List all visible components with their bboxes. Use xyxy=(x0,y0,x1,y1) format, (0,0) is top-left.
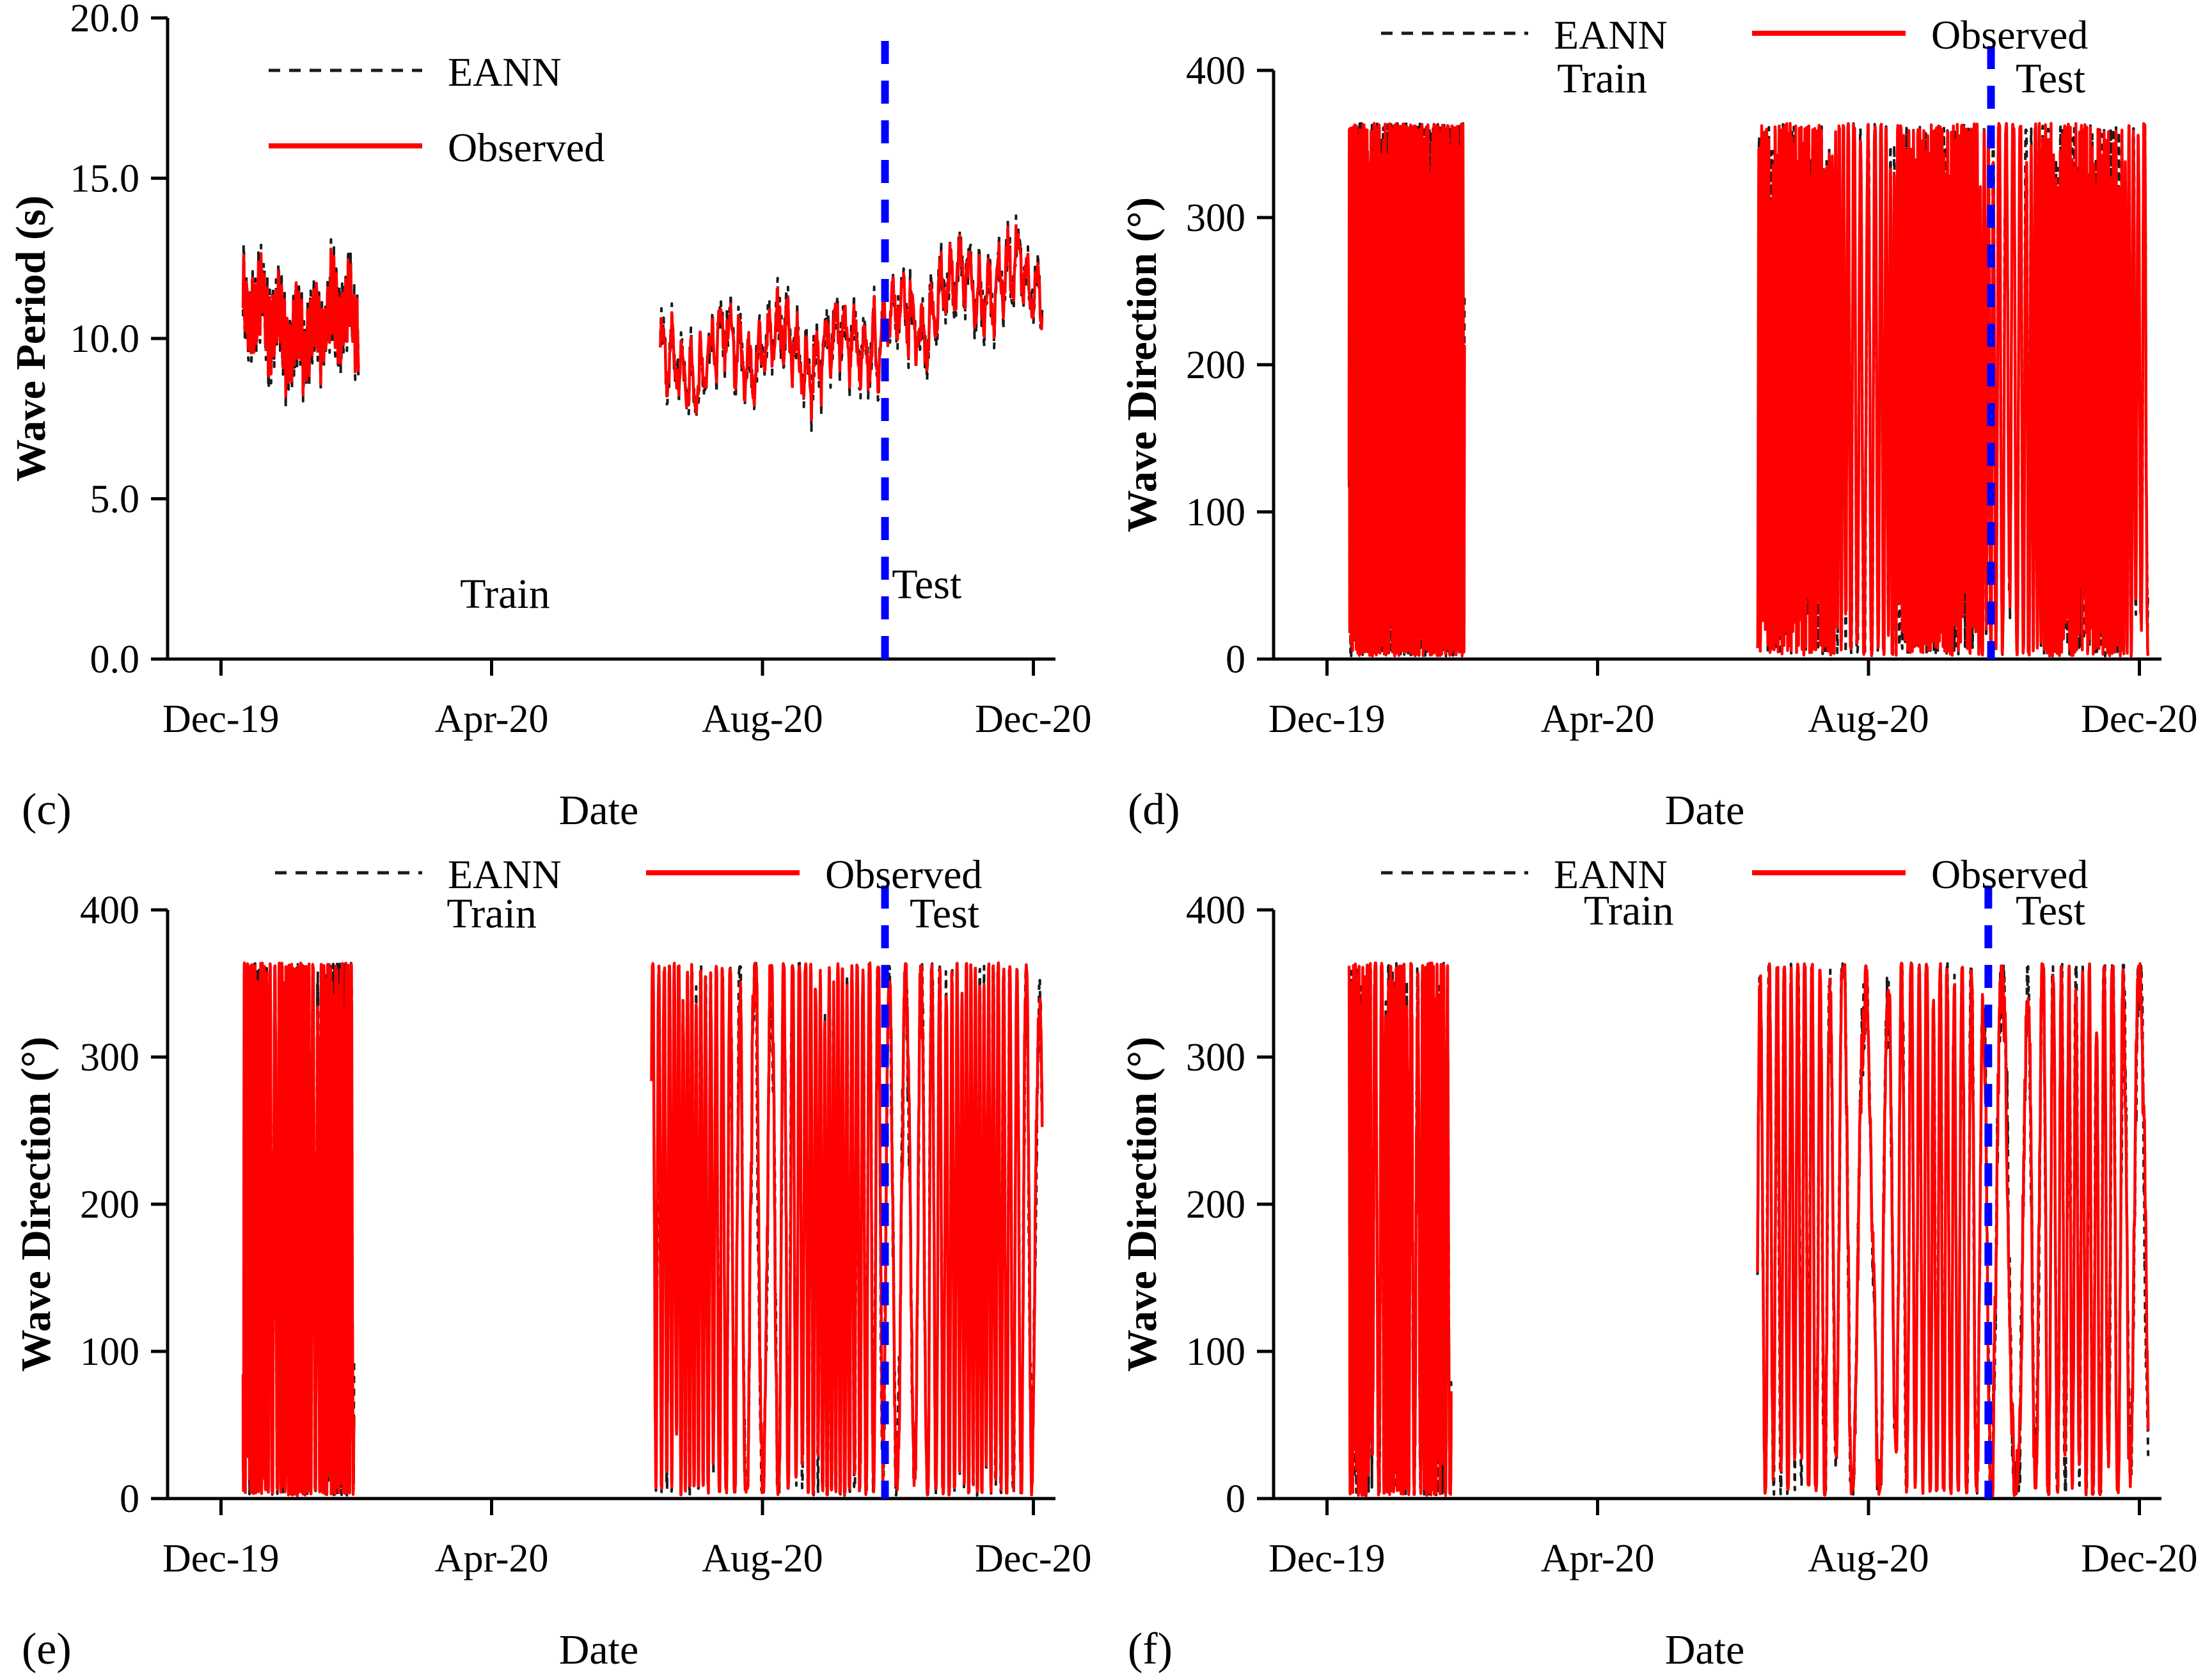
x-tick-label: Apr-20 xyxy=(1541,1537,1655,1580)
y-axis-title: Wave Direction (°) xyxy=(1119,1037,1165,1372)
legend-e: EANNObserved xyxy=(275,852,982,897)
x-tick-label: Apr-20 xyxy=(1541,697,1655,741)
x-axis-ticks-e: Dec-19Apr-20Aug-20Dec-20 xyxy=(162,1499,1091,1580)
chart-svg-f: 0100200300400Dec-19Apr-20Aug-20Dec-20Tra… xyxy=(1106,839,2212,1679)
x-tick-label: Dec-19 xyxy=(1268,1537,1385,1580)
legend-label-eann: EANN xyxy=(448,852,562,897)
x-tick-label: Aug-20 xyxy=(1808,1537,1929,1580)
y-tick-label: 100 xyxy=(1186,1330,1245,1374)
chart-panel-e: 0100200300400Dec-19Apr-20Aug-20Dec-20Tra… xyxy=(0,839,1106,1679)
legend-d: EANNObserved xyxy=(1381,12,2088,58)
y-tick-label: 20.0 xyxy=(70,0,140,40)
series-observed-line xyxy=(1758,963,2149,1495)
y-tick-label: 0 xyxy=(1226,638,1245,681)
phase-label-train: Train xyxy=(1557,56,1647,102)
chart-svg-e: 0100200300400Dec-19Apr-20Aug-20Dec-20Tra… xyxy=(0,839,1106,1679)
phase-label-train: Train xyxy=(460,571,550,617)
series-observed-line xyxy=(1349,123,1464,656)
x-tick-label: Dec-20 xyxy=(2081,697,2197,741)
series-observed-line xyxy=(1758,123,2149,656)
x-tick-label: Apr-20 xyxy=(435,697,549,741)
x-tick-label: Aug-20 xyxy=(1808,697,1929,741)
panel-letter-c: (c) xyxy=(22,785,72,834)
y-tick-label: 100 xyxy=(1186,491,1245,534)
data-series-c xyxy=(243,216,1042,431)
y-tick-label: 300 xyxy=(1186,1036,1245,1079)
legend-label-observed: Observed xyxy=(825,852,982,897)
y-axis-title: Wave Direction (°) xyxy=(13,1037,59,1372)
y-tick-label: 400 xyxy=(1186,889,1245,932)
y-tick-label: 300 xyxy=(1186,196,1245,240)
legend-f: EANNObserved xyxy=(1381,852,2088,897)
x-axis-ticks-f: Dec-19Apr-20Aug-20Dec-20 xyxy=(1268,1499,2197,1580)
series-observed-line xyxy=(243,250,358,396)
chart-svg-c: 0.05.010.015.020.0Dec-19Apr-20Aug-20Dec-… xyxy=(0,0,1106,839)
x-axis-title: Date xyxy=(559,787,639,834)
data-series-e xyxy=(243,963,1042,1496)
x-tick-label: Dec-20 xyxy=(975,697,1091,741)
y-axis-title: Wave Period (s) xyxy=(8,195,54,481)
x-tick-label: Apr-20 xyxy=(435,1537,549,1580)
legend-c: EANNObserved xyxy=(269,49,604,170)
y-tick-label: 300 xyxy=(80,1036,139,1079)
phase-label-train: Train xyxy=(446,891,537,937)
series-observed-line xyxy=(1349,963,1451,1496)
legend-label-eann: EANN xyxy=(448,49,562,95)
x-axis-title: Date xyxy=(1665,1627,1745,1673)
legend-label-observed: Observed xyxy=(1931,12,2088,58)
series-observed-line xyxy=(660,226,1042,420)
panel-letter-f: (f) xyxy=(1128,1625,1173,1674)
legend-label-observed: Observed xyxy=(448,125,604,170)
x-tick-label: Dec-20 xyxy=(975,1537,1091,1580)
chart-panel-c: 0.05.010.015.020.0Dec-19Apr-20Aug-20Dec-… xyxy=(0,0,1106,839)
x-tick-label: Aug-20 xyxy=(702,1537,823,1580)
figure-root: 0.05.010.015.020.0Dec-19Apr-20Aug-20Dec-… xyxy=(0,0,2212,1679)
x-tick-label: Dec-19 xyxy=(162,1537,279,1580)
series-observed-line xyxy=(243,963,354,1495)
data-series-f xyxy=(1349,963,2148,1496)
chart-svg-d: 0100200300400Dec-19Apr-20Aug-20Dec-20Tra… xyxy=(1106,0,2212,839)
panel-letter-d: (d) xyxy=(1128,785,1180,834)
data-series-d xyxy=(1349,123,2148,656)
y-tick-label: 10.0 xyxy=(70,317,140,361)
y-tick-label: 200 xyxy=(1186,1183,1245,1227)
y-tick-label: 200 xyxy=(80,1183,139,1227)
x-axis-ticks-d: Dec-19Apr-20Aug-20Dec-20 xyxy=(1268,659,2197,741)
legend-label-observed: Observed xyxy=(1931,852,2088,897)
chart-panel-d: 0100200300400Dec-19Apr-20Aug-20Dec-20Tra… xyxy=(1106,0,2212,839)
x-tick-label: Dec-19 xyxy=(1268,697,1385,741)
y-tick-label: 400 xyxy=(80,889,139,932)
legend-label-eann: EANN xyxy=(1554,852,1668,897)
x-axis-title: Date xyxy=(559,1627,639,1673)
y-tick-label: 0 xyxy=(120,1477,139,1521)
legend-label-eann: EANN xyxy=(1554,12,1668,58)
y-tick-label: 15.0 xyxy=(70,157,140,201)
y-axis-ticks-e: 0100200300400 xyxy=(80,889,168,1521)
x-axis-ticks-c: Dec-19Apr-20Aug-20Dec-20 xyxy=(162,659,1091,741)
y-tick-label: 200 xyxy=(1186,344,1245,387)
phase-label-test: Test xyxy=(892,561,961,608)
x-tick-label: Dec-19 xyxy=(162,697,279,741)
y-tick-label: 400 xyxy=(1186,49,1245,93)
y-tick-label: 5.0 xyxy=(90,478,140,521)
x-tick-label: Aug-20 xyxy=(702,697,823,741)
phase-label-test: Test xyxy=(2016,56,2085,102)
y-axis-ticks-d: 0100200300400 xyxy=(1186,49,1274,681)
panel-letter-e: (e) xyxy=(22,1625,72,1674)
phase-label-test: Test xyxy=(910,891,979,937)
y-axis-title: Wave Direction (°) xyxy=(1119,197,1165,532)
y-tick-label: 100 xyxy=(80,1330,139,1374)
y-axis-ticks-c: 0.05.010.015.020.0 xyxy=(70,0,168,681)
chart-panel-f: 0100200300400Dec-19Apr-20Aug-20Dec-20Tra… xyxy=(1106,839,2212,1679)
x-tick-label: Dec-20 xyxy=(2081,1537,2197,1580)
y-tick-label: 0 xyxy=(1226,1477,1245,1521)
y-tick-label: 0.0 xyxy=(90,638,140,681)
series-observed-line xyxy=(652,963,1043,1495)
y-axis-ticks-f: 0100200300400 xyxy=(1186,889,1274,1521)
x-axis-title: Date xyxy=(1665,787,1745,834)
